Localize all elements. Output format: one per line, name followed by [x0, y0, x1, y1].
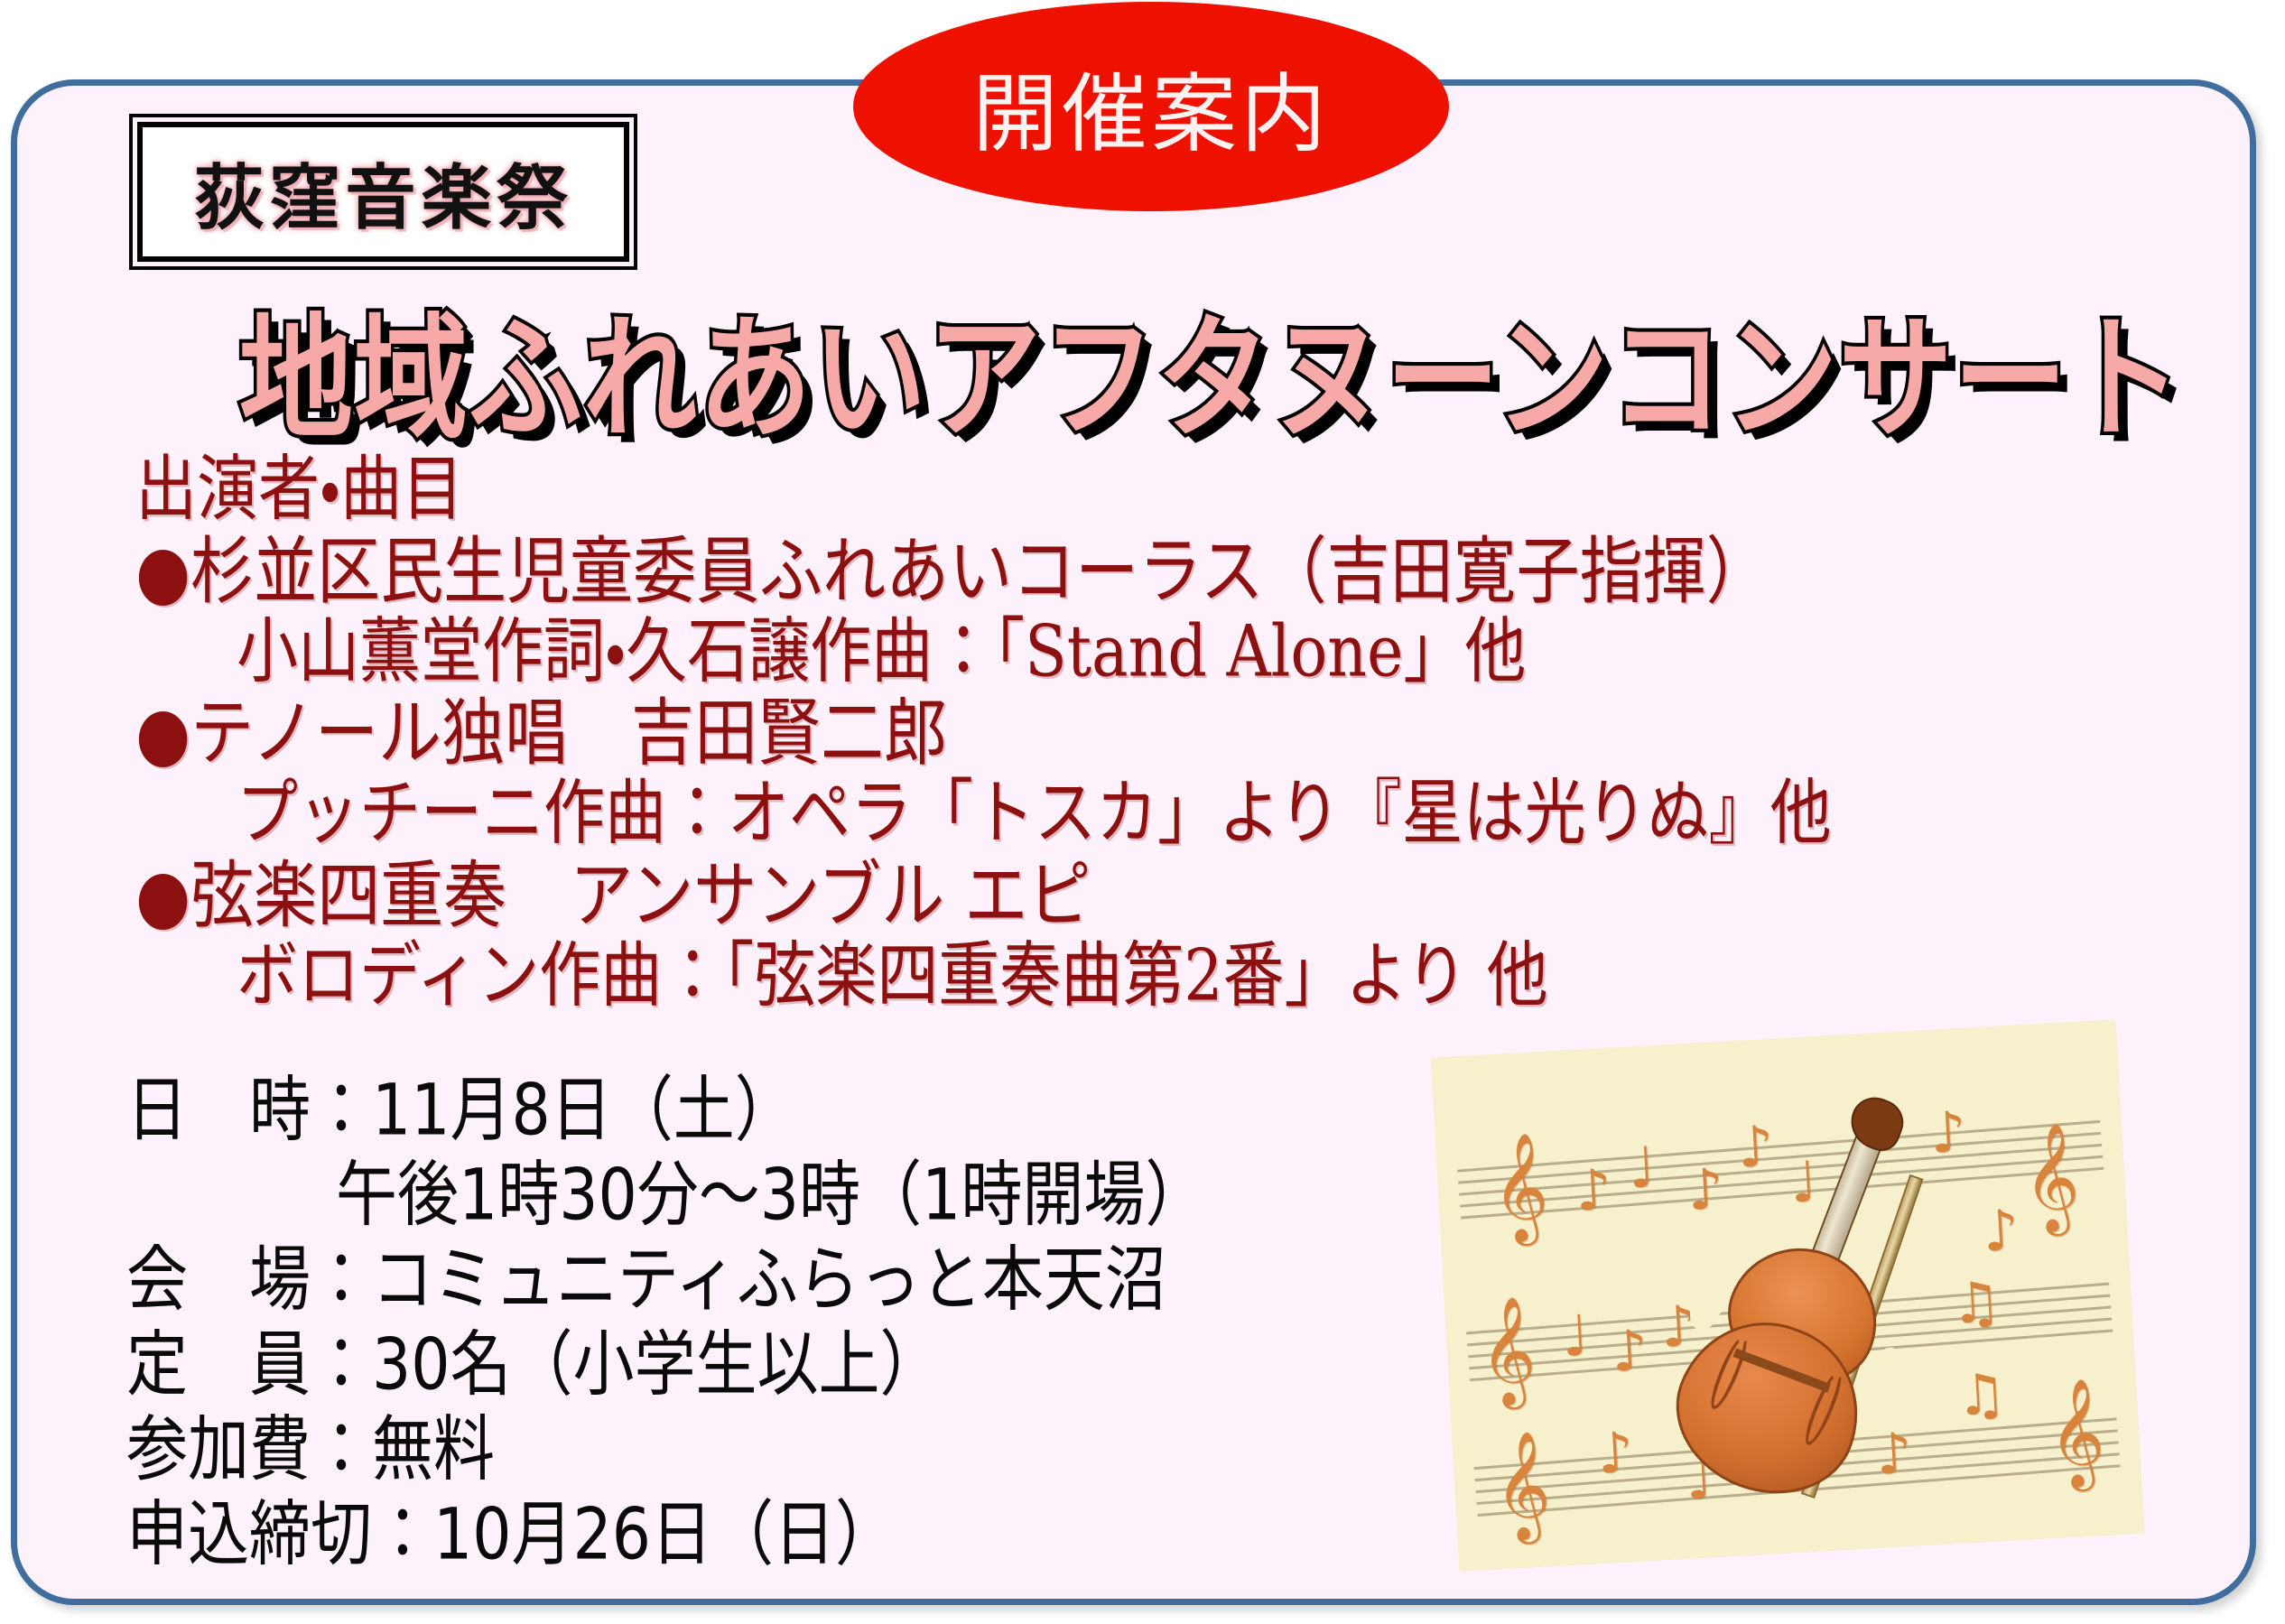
music-note-icon: ♪ [1929, 1104, 1968, 1162]
music-note-icon: ♪ [1596, 1424, 1635, 1482]
page-title: 地域ふれあいアフタヌーンコンサート [239, 271, 2135, 435]
program-performer-1: ●杉並区民生児童委員ふれあいコーラス（吉田寛子指揮） [135, 534, 2167, 609]
program-piece-3: ボロディン作曲：「弦楽四重奏曲第2番」より 他 [135, 940, 2167, 1014]
festival-name-label: 荻窪音楽祭 [193, 142, 572, 243]
treble-clef-icon: 𝄞 [1491, 1436, 1552, 1533]
detail-fee: 参加費：無料 [126, 1414, 1481, 1489]
music-note-icon: ♪ [1982, 1202, 2020, 1260]
detail-venue: 会 場：コミュニティふらっと本天沼 [126, 1243, 1481, 1319]
page-title-text: 地域ふれあいアフタヌーンコンサート [239, 271, 2183, 465]
announcement-badge: 開催案内 [853, 2, 1449, 211]
detail-datetime: 日 時：11月8日（土） [126, 1073, 1481, 1149]
announcement-badge-label: 開催案内 [972, 45, 1330, 169]
music-note-icon: ♪ [1574, 1162, 1612, 1220]
program-section: 出演者・曲目 ●杉並区民生児童委員ふれあいコーラス（吉田寛子指揮） 小山薫堂作詞… [135, 459, 2167, 1025]
program-performer-2: ●テノール独唱 吉田賢二郎 [135, 695, 2167, 771]
festival-name-box: 荻窪音楽祭 [137, 122, 629, 262]
music-note-icon: ♪ [1686, 1161, 1725, 1219]
program-performer-3: ●弦楽四重奏 アンサンブル エピ [135, 858, 2167, 933]
music-note-icon: ♪ [1610, 1322, 1649, 1380]
violin-illustration: 𝄞 𝄞 𝄞 𝄞 𝄞 ♪ ♩ ♪ ♪ ♩ ♪ ♩ ♪ ♪ ♫ ♪ ♪ ♩ ♪ ♫ [1431, 1019, 2145, 1572]
music-note-icon: ♫ [1949, 1274, 2002, 1332]
music-note-icon: ♪ [1874, 1425, 1913, 1483]
music-note-icon: ♩ [1560, 1307, 1590, 1365]
program-piece-2: プッチーニ作曲：オペラ「トスカ」より『星は光りぬ』他 [135, 777, 2167, 851]
treble-clef-icon: 𝄞 [2020, 1128, 2081, 1225]
treble-clef-icon: 𝄞 [2046, 1384, 2106, 1480]
detail-datetime-hours: 午後1時30分～3時（1時開場） [126, 1158, 1481, 1234]
detail-deadline: 申込締切：10月26日（日） [126, 1499, 1481, 1574]
treble-clef-icon: 𝄞 [1477, 1302, 1537, 1398]
music-note-icon: ♩ [1627, 1139, 1657, 1197]
detail-capacity: 定 員：30名（小学生以上） [126, 1328, 1481, 1404]
music-note-icon: ♫ [1955, 1366, 2008, 1424]
program-piece-1: 小山薫堂作詞・久石譲作曲：「Stand Alone」他 [135, 616, 2167, 690]
program-heading: 出演者・曲目 [135, 453, 2167, 527]
treble-clef-icon: 𝄞 [1490, 1138, 1550, 1235]
event-details-section: 日 時：11月8日（土） 午後1時30分～3時（1時開場） 会 場：コミュニティ… [126, 1079, 1481, 1588]
